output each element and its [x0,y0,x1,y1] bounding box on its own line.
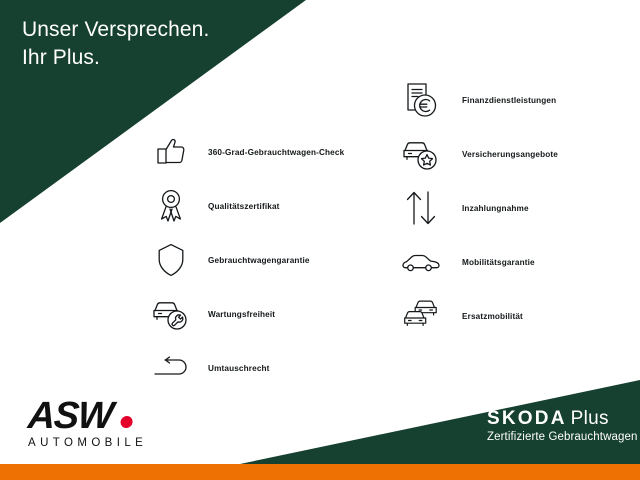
feature-label: Wartungsfreiheit [194,310,275,319]
feature-item-wartungsfreiheit: Wartungsfreiheit [148,288,344,340]
skoda-subtitle: Zertifizierte Gebrauchtwagen [487,430,637,445]
promo-banner: Unser Versprechen. Ihr Plus. 360-Grad-Ge… [0,0,640,480]
orange-footer-bar [0,464,640,480]
car-star-icon [398,132,444,176]
red-dot-icon [120,416,133,428]
skoda-logo-top: ŠKODAPlus [487,408,637,430]
skoda-plus-logo: ŠKODAPlus Zertifizierte Gebrauchtwagen [487,408,637,445]
feature-item-inzahlungnahme: Inzahlungnahme [398,182,558,234]
feature-label: 360-Grad-Gebrauchtwagen-Check [194,148,344,157]
award-rosette-icon [148,184,194,228]
feature-label: Finanzdienstleistungen [444,96,556,105]
feature-label: Gebrauchtwagengarantie [194,256,310,265]
two-cars-icon [398,294,444,338]
feature-label: Inzahlungnahme [444,204,529,213]
feature-item-qualitaetszertifikat: Qualitätszertifikat [148,180,344,232]
asw-wordmark-text: ASW [27,395,114,437]
feature-label: Versicherungsangebote [444,150,558,159]
feature-label: Qualitätszertifikat [194,202,280,211]
feature-list-left: 360-Grad-Gebrauchtwagen-Check Qualitätsz… [148,126,344,396]
return-arrow-icon [148,346,194,390]
shield-icon [148,238,194,282]
feature-item-finanzdienstleistungen: Finanzdienstleistungen [398,74,558,126]
feature-item-umtauschrecht: Umtauschrecht [148,342,344,394]
feature-item-gebrauchtwagengarantie: Gebrauchtwagengarantie [148,234,344,286]
feature-list-right: Finanzdienstleistungen Versicherungsange… [398,74,558,344]
feature-item-ersatzmobilitaet: Ersatzmobilität [398,290,558,342]
up-down-arrows-icon [398,186,444,230]
asw-subtitle: AUTOMOBILE [28,437,178,449]
feature-label: Ersatzmobilität [444,312,523,321]
document-euro-icon [398,78,444,122]
asw-logo: ASW AUTOMOBILE [28,396,178,449]
skoda-brand-text: ŠKODA [487,408,567,429]
car-wrench-icon [148,292,194,336]
asw-wordmark: ASW [27,396,180,436]
feature-label: Mobilitätsgarantie [444,258,535,267]
skoda-plus-text: Plus [571,408,609,429]
headline-line-1: Unser Versprechen. [22,18,209,41]
thumbs-up-icon [148,130,194,174]
headline-line-2: Ihr Plus. [22,44,209,72]
feature-item-versicherungsangebote: Versicherungsangebote [398,128,558,180]
feature-item-360-check: 360-Grad-Gebrauchtwagen-Check [148,126,344,178]
car-side-icon [398,240,444,284]
feature-label: Umtauschrecht [194,364,270,373]
feature-item-mobilitaetsgarantie: Mobilitätsgarantie [398,236,558,288]
page-title: Unser Versprechen. Ihr Plus. [22,16,209,72]
